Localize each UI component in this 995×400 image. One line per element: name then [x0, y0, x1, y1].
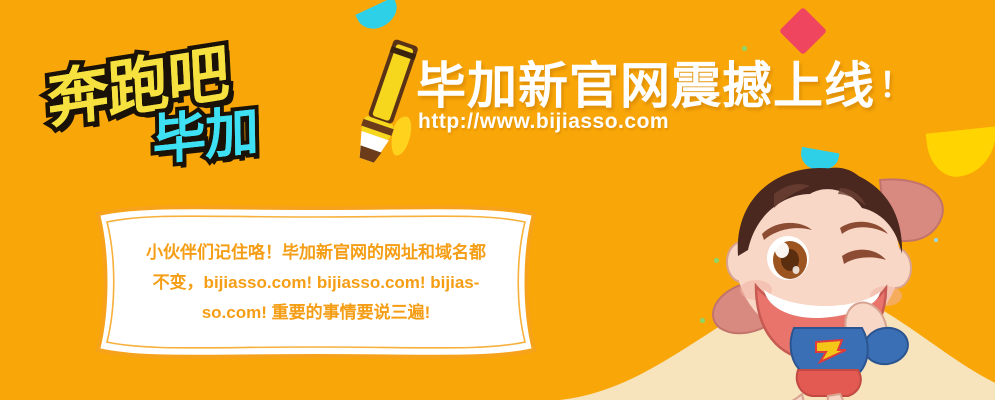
headline-exclamation: ！	[879, 67, 914, 105]
headline-text: 毕加新官网震撼上线	[416, 58, 875, 114]
message-line: so.com! 重要的事情要说三遍!	[116, 298, 516, 328]
message-line: 不变，bijiasso.com! bijiasso.com! bijias-	[116, 268, 516, 298]
message-line: 小伙伴们记住咯！毕加新官网的网址和域名都	[116, 238, 516, 268]
page-title: 毕加新官网震撼上线！	[416, 46, 914, 118]
superhero-chibi-character	[690, 150, 960, 400]
promo-banner: 奔跑吧 奔跑吧 毕加 毕加 毕加新官网震撼上线！ http://www.biji…	[0, 0, 995, 400]
website-url[interactable]: http://www.bijiasso.com	[418, 110, 669, 134]
message-text: 小伙伴们记住咯！毕加新官网的网址和域名都 不变，bijiasso.com! bi…	[116, 238, 516, 327]
logo-line-secondary-fill: 毕加	[152, 85, 259, 175]
message-box: 小伙伴们记住咯！毕加新官网的网址和域名都 不变，bijiasso.com! bi…	[82, 202, 550, 362]
brand-logo: 奔跑吧 奔跑吧 毕加 毕加	[34, 18, 394, 168]
